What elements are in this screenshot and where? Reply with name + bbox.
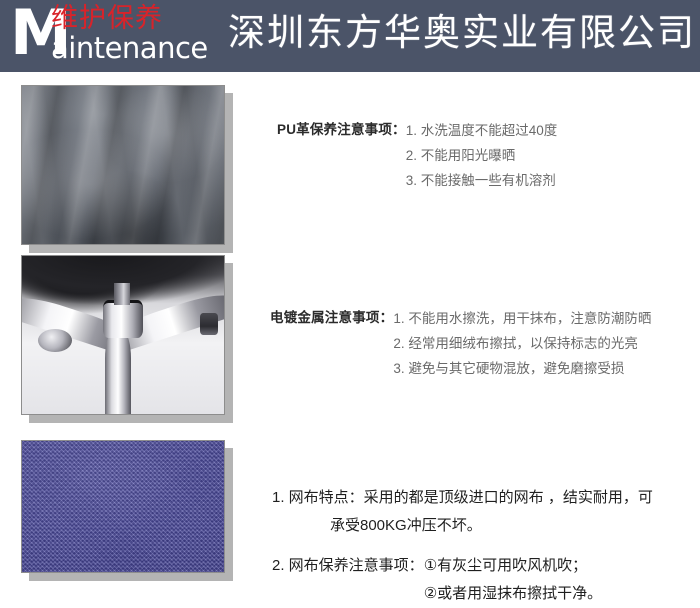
chrome-arm-center [105,332,131,415]
plated-metal-item-list: 1. 不能用水擦洗，用干抹布，注意防潮防晒 2. 经常用细绒布擦拭，以保持标志的… [393,306,651,381]
gas-lift-hub [103,300,143,338]
gas-lift-piston [114,283,130,305]
pu-leather-image [21,85,225,245]
logo-english-title: aintenance [51,33,208,63]
list-item: 1. 不能用水擦洗，用干抹布，注意防潮防晒 [393,306,651,331]
list-item: ①有灰尘可用吹风机吹； [424,552,602,580]
maintenance-logo: M 维护保养 aintenance [8,4,218,70]
pu-leather-row: PU革保养注意事项： 1. 水洗温度不能超过40度 2. 不能用阳光曝晒 3. … [277,118,557,193]
caster-socket-right [200,313,218,335]
pu-leather-label: PU革保养注意事项： [277,118,406,138]
mesh-fabric-text-block: 1. 网布特点：采用的都是顶级进口的网布 ，结实耐用，可 承受800KG冲压不坏… [272,484,653,608]
list-item: 2. 不能用阳光曝晒 [406,143,558,168]
pu-leather-photo [21,85,225,245]
list-item: ②或者用湿抹布擦拭干净。 [424,580,602,608]
list-item: 1. 水洗温度不能超过40度 [406,118,558,143]
header-banner: M 维护保养 aintenance 深圳东方华奥实业有限公司 [0,0,700,72]
pu-leather-item-list: 1. 水洗温度不能超过40度 2. 不能用阳光曝晒 3. 不能接触一些有机溶剂 [406,118,558,193]
spacer [272,540,653,552]
plated-metal-row: 电镀金属注意事项： 1. 不能用水擦洗，用干抹布，注意防潮防晒 2. 经常用细绒… [270,306,651,381]
caster-socket-left [38,329,72,353]
plated-metal-label: 电镀金属注意事项： [270,306,393,326]
plated-metal-text-block: 电镀金属注意事项： 1. 不能用水擦洗，用干抹布，注意防潮防晒 2. 经常用细绒… [270,306,651,381]
chrome-base-image [21,255,225,415]
mesh-feature-line-2: 承受800KG冲压不坏。 [272,512,653,540]
mesh-feature-line-1: 1. 网布特点：采用的都是顶级进口的网布 ，结实耐用，可 [272,484,653,512]
chrome-base-photo [21,255,225,415]
logo-chinese-title: 维护保养 [51,5,163,33]
list-item: 3. 不能接触一些有机溶剂 [406,168,558,193]
pu-leather-text-block: PU革保养注意事项： 1. 水洗温度不能超过40度 2. 不能用阳光曝晒 3. … [277,118,557,193]
mesh-fabric-photo [21,440,225,573]
mesh-care-row: 2. 网布保养注意事项： ①有灰尘可用吹风机吹； ②或者用湿抹布擦拭干净。 [272,552,653,608]
list-item: 2. 经常用细绒布擦拭，以保持标志的光亮 [393,331,651,356]
company-name: 深圳东方华奥实业有限公司 [228,8,696,58]
mesh-care-label: 2. 网布保养注意事项： [272,552,424,580]
list-item: 3. 避免与其它硬物混放，避免磨擦受损 [393,356,651,381]
mesh-care-sub-list: ①有灰尘可用吹风机吹； ②或者用湿抹布擦拭干净。 [424,552,602,608]
mesh-fabric-image [21,440,225,573]
